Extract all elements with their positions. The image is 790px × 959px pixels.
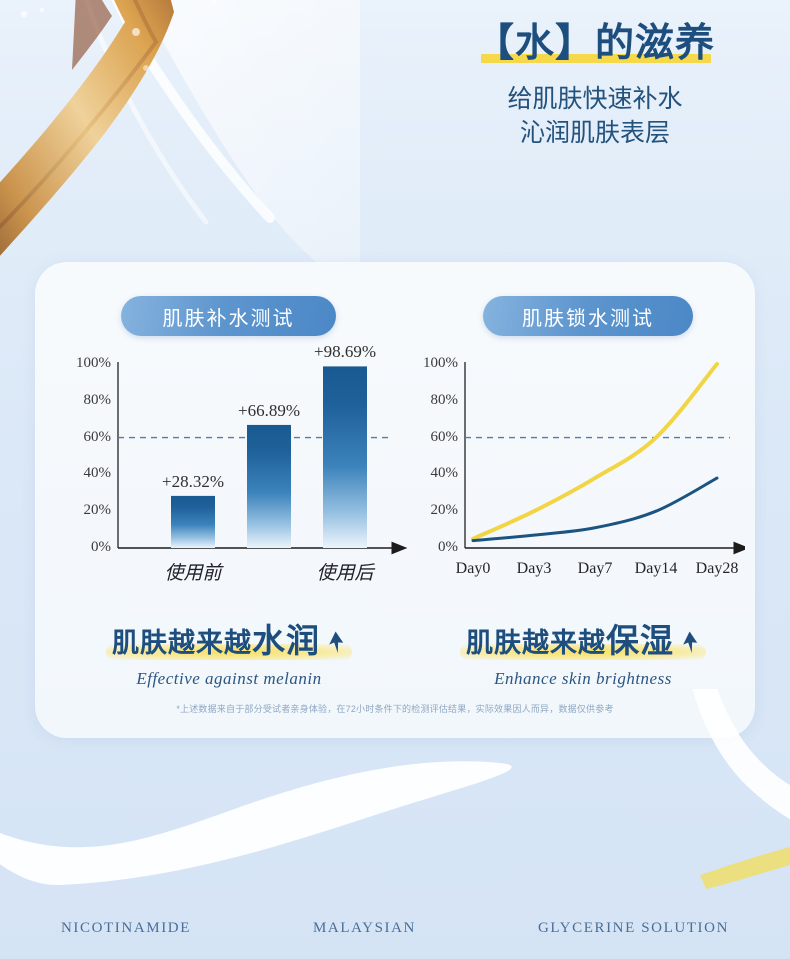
bar-chart: +28.32%+66.89%+98.69% 0%20%40%60%80%100%… xyxy=(53,352,413,592)
ingredients-row: NICOTINAMIDE MALAYSIAN GLYCERINE SOLUTIO… xyxy=(0,920,790,937)
main-title-row: 【水】的滋养 xyxy=(475,22,715,67)
bar-y-tick-4: 80% xyxy=(53,392,111,409)
ingredient-0: NICOTINAMIDE xyxy=(61,920,191,937)
water-splash-graphic xyxy=(0,0,360,280)
result-hydration: 肌肤越来越水润 Effective against melanin xyxy=(49,614,409,689)
line-y-tick-4: 80% xyxy=(405,392,458,409)
bar-value-label-1: +66.89% xyxy=(219,401,319,421)
disclaimer-footnote: *上述数据来自于部分受试者亲身体验，在72小时条件下的检测评估结果，实际效果因人… xyxy=(35,702,755,715)
promo-page: 【水】的滋养 给肌肤快速补水 沁润肌肤表层 肌肤补水测试 肌肤锁水测试 xyxy=(0,0,790,959)
bar-y-tick-3: 60% xyxy=(53,429,111,446)
line-chart: 0%20%40%60%80%100% Day0Day3Day7Day14Day2… xyxy=(405,352,745,592)
result-english-right: Enhance skin brightness xyxy=(403,669,763,689)
arrow-up-icon xyxy=(326,630,346,661)
result-headline-left-emphasis: 水润 xyxy=(252,622,320,659)
line-y-tick-5: 100% xyxy=(405,355,458,372)
bar-value-label-2: +98.69% xyxy=(295,342,395,362)
bar-value-label-0: +28.32% xyxy=(143,472,243,492)
subtitle-line-2: 沁润肌肤表层 xyxy=(420,117,770,151)
result-headline-wrap-left: 肌肤越来越水润 xyxy=(106,614,352,662)
arrow-up-icon xyxy=(680,630,700,661)
result-moisture-lock: 肌肤越来越保湿 Enhance skin brightness xyxy=(403,614,763,689)
bar-y-tick-2: 40% xyxy=(53,465,111,482)
ingredient-1: MALAYSIAN xyxy=(313,920,416,937)
result-headline-right-prefix: 肌肤越来越 xyxy=(466,628,606,658)
charts-card: 肌肤补水测试 肌肤锁水测试 xyxy=(35,262,755,738)
result-headline-left-prefix: 肌肤越来越 xyxy=(112,628,252,658)
result-headline-right: 肌肤越来越保湿 xyxy=(466,628,700,658)
header-block: 【水】的滋养 给肌肤快速补水 沁润肌肤表层 xyxy=(420,22,770,150)
line-series-baseline-blue xyxy=(473,478,717,541)
line-y-tick-3: 60% xyxy=(405,429,458,446)
line-y-tick-1: 20% xyxy=(405,502,458,519)
bar-y-tick-5: 100% xyxy=(53,355,111,372)
result-english-left: Effective against melanin xyxy=(49,669,409,689)
bar-y-tick-0: 0% xyxy=(53,539,111,556)
bar-0 xyxy=(171,496,215,548)
subtitle-line-1: 给肌肤快速补水 xyxy=(420,83,770,117)
line-y-tick-2: 40% xyxy=(405,465,458,482)
bar-x-label-2: 使用后 xyxy=(295,558,395,585)
result-headline-left: 肌肤越来越水润 xyxy=(112,628,346,658)
line-y-tick-0: 0% xyxy=(405,539,458,556)
line-x-label-4: Day28 xyxy=(677,560,757,578)
header-subtitle: 给肌肤快速补水 沁润肌肤表层 xyxy=(420,83,770,151)
bar-x-label-0: 使用前 xyxy=(143,558,243,585)
chart-title-pill-moisture-lock: 肌肤锁水测试 xyxy=(483,296,693,336)
line-series-locked-moisture-yellow xyxy=(473,364,717,539)
result-headline-right-emphasis: 保湿 xyxy=(606,622,674,659)
ingredient-2: GLYCERINE SOLUTION xyxy=(538,920,729,937)
bar-2 xyxy=(323,366,367,548)
bar-y-tick-1: 20% xyxy=(53,502,111,519)
page-title: 【水】的滋养 xyxy=(475,22,715,67)
result-headline-wrap-right: 肌肤越来越保湿 xyxy=(460,614,706,662)
bar-1 xyxy=(247,425,291,548)
chart-title-pill-hydration: 肌肤补水测试 xyxy=(121,296,336,336)
